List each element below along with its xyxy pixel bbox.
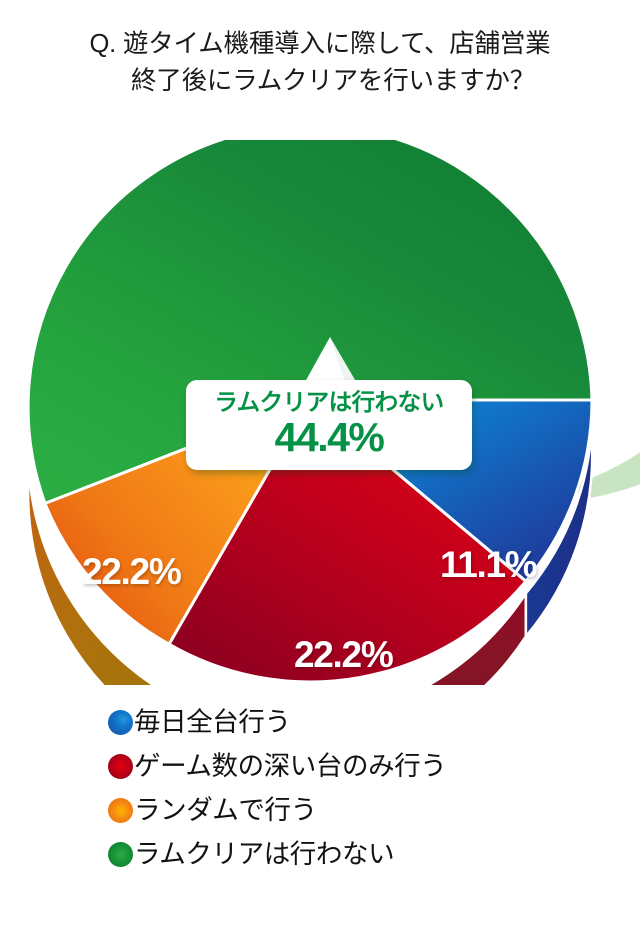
legend-item-every-day-all-machines[interactable]: 毎日全台行う [108,700,640,744]
chart-legend: 毎日全台行う ゲーム数の深い台のみ行う ランダムで行う ラムクリアは行わない [0,700,640,876]
title-line-2: 終了後にラムクリアを行いますか？ [0,63,640,100]
legend-item-label: 毎日全台行う [134,707,291,737]
slice-value-label-orange: 22.2% [82,551,180,593]
legend-item-random[interactable]: ランダムで行う [108,788,640,832]
pie-chart: ラムクリアは行わない 44.4% 11.1% 22.2% 22.2% [0,140,640,685]
legend-item-label: ランダムで行う [134,795,317,825]
legend-item-ram-clear-none[interactable]: ラムクリアは行わない [108,832,640,876]
blue-circle-icon [108,710,133,735]
orange-circle-icon [108,798,133,823]
slice-value-label-red: 22.2% [294,634,392,676]
callout-value: 44.4% [194,415,464,459]
slice-value-label-blue: 11.1% [440,544,536,586]
legend-item-deep-game-count-only[interactable]: ゲーム数の深い台のみ行う [108,744,640,788]
green-circle-icon [108,842,133,867]
legend-item-label: ゲーム数の深い台のみ行う [134,751,446,781]
page-title: Q. 遊タイム機種導入に際して、店舗営業 終了後にラムクリアを行いますか？ [0,0,640,100]
title-line-1: Q. 遊タイム機種導入に際して、店舗営業 [0,26,640,63]
callout-label: ラムクリアは行わない [194,389,464,416]
red-circle-icon [108,754,133,779]
legend-item-label: ラムクリアは行わない [134,839,394,869]
callout-box-ram-clear-none: ラムクリアは行わない 44.4% [186,380,472,470]
